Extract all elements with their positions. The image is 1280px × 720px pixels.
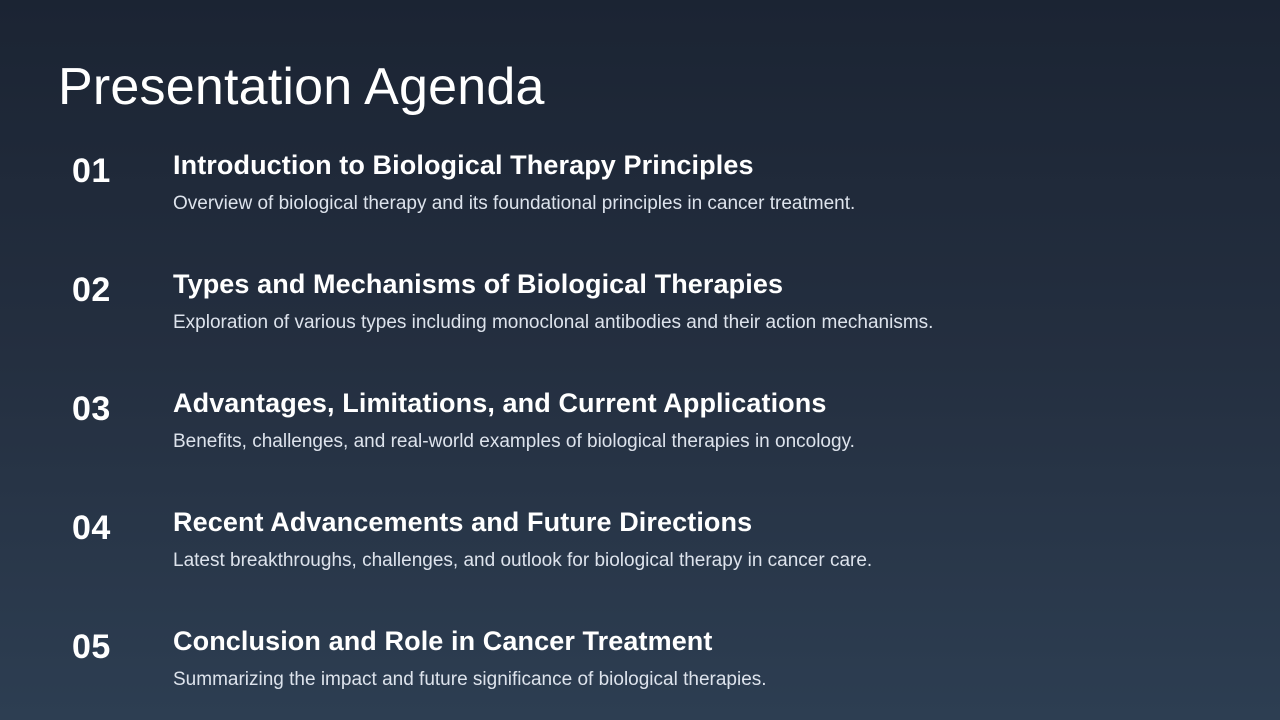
agenda-item-title: Conclusion and Role in Cancer Treatment [173, 624, 1240, 659]
agenda-item-04: 04 Recent Advancements and Future Direct… [0, 505, 1280, 624]
agenda-item-02: 02 Types and Mechanisms of Biological Th… [0, 267, 1280, 386]
agenda-item-description: Exploration of various types including m… [173, 310, 1240, 336]
agenda-item-body: Introduction to Biological Therapy Princ… [173, 148, 1240, 217]
agenda-item-title: Recent Advancements and Future Direction… [173, 505, 1240, 540]
agenda-item-title: Types and Mechanisms of Biological Thera… [173, 267, 1240, 302]
agenda-item-description: Latest breakthroughs, challenges, and ou… [173, 548, 1240, 574]
agenda-item-number: 01 [72, 154, 158, 188]
agenda-item-number: 05 [72, 630, 158, 664]
agenda-item-description: Overview of biological therapy and its f… [173, 191, 1240, 217]
agenda-item-number: 02 [72, 273, 158, 307]
agenda-item-number: 04 [72, 511, 158, 545]
agenda-item-body: Types and Mechanisms of Biological Thera… [173, 267, 1240, 336]
agenda-item-body: Conclusion and Role in Cancer Treatment … [173, 624, 1240, 693]
page-title: Presentation Agenda [58, 57, 545, 118]
agenda-item-03: 03 Advantages, Limitations, and Current … [0, 386, 1280, 505]
agenda-list: 01 Introduction to Biological Therapy Pr… [0, 148, 1280, 720]
agenda-item-title: Introduction to Biological Therapy Princ… [173, 148, 1240, 183]
agenda-item-05: 05 Conclusion and Role in Cancer Treatme… [0, 624, 1280, 720]
agenda-item-description: Summarizing the impact and future signif… [173, 667, 1240, 693]
agenda-item-title: Advantages, Limitations, and Current App… [173, 386, 1240, 421]
agenda-item-body: Advantages, Limitations, and Current App… [173, 386, 1240, 455]
agenda-item-description: Benefits, challenges, and real-world exa… [173, 429, 1240, 455]
presentation-slide: Presentation Agenda 01 Introduction to B… [0, 0, 1280, 720]
agenda-item-number: 03 [72, 392, 158, 426]
agenda-item-01: 01 Introduction to Biological Therapy Pr… [0, 148, 1280, 267]
agenda-item-body: Recent Advancements and Future Direction… [173, 505, 1240, 574]
